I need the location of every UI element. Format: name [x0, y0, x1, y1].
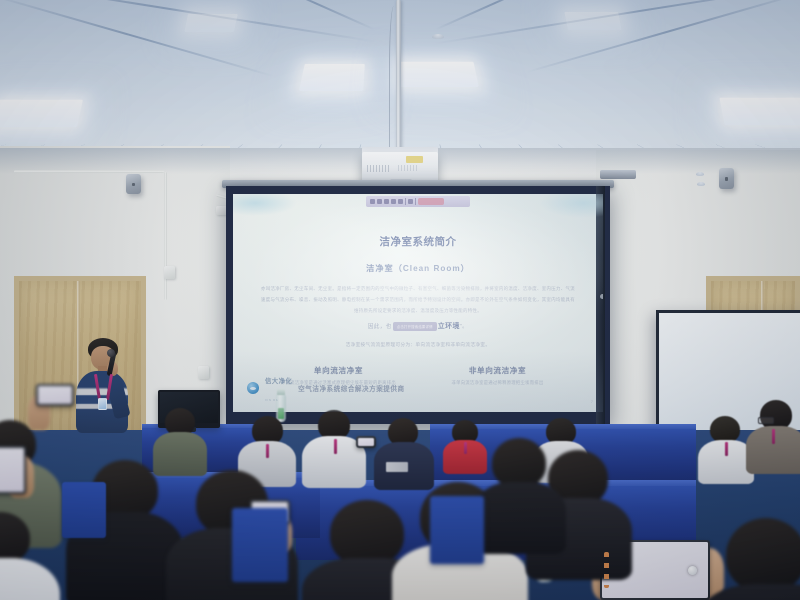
- quote-emphasis: 立环境: [438, 323, 460, 330]
- projector-vent: [367, 165, 391, 172]
- chair-back: [430, 496, 484, 564]
- head: [330, 500, 404, 566]
- head: [726, 518, 800, 592]
- audience-phone-raised[interactable]: [0, 446, 26, 494]
- lanyard: [266, 444, 269, 458]
- search-result-tooltip-chip[interactable]: 点击打开搜索结果详情: [393, 322, 437, 331]
- screen-glare: [539, 194, 603, 218]
- phone-screen: [0, 448, 24, 492]
- footer-tagline: 空气洁净系统综合解决方案提供商: [298, 383, 404, 393]
- slide-subtitle: 洁净室（Clean Room）: [253, 262, 583, 274]
- projector-vent: [398, 165, 418, 171]
- toolbar-icon[interactable]: [391, 199, 396, 204]
- phone-shutter-button[interactable]: [688, 566, 697, 575]
- ceiling-rail: [526, 0, 800, 73]
- projector-mount-pole: [396, 0, 401, 152]
- logo-chinese-name: 信大净化: [265, 378, 292, 385]
- chair-back: [232, 508, 288, 582]
- presentation-toolbar-overlay[interactable]: [366, 196, 470, 207]
- microphone-head-icon: [107, 349, 115, 357]
- wall-speaker-right: [719, 168, 734, 189]
- quote-suffix: ”。: [460, 324, 468, 330]
- phone-screen: [38, 386, 72, 404]
- wall-speaker-left: [126, 174, 141, 194]
- slide-page-number: 7: [591, 399, 593, 404]
- led-panel: [400, 62, 479, 87]
- glasses-icon: [758, 417, 774, 424]
- lanyard: [334, 439, 337, 454]
- wall-sensor-icon: [696, 172, 704, 176]
- audience-phone-raised[interactable]: [36, 384, 74, 406]
- slide-title: 洁净室系统简介: [253, 234, 583, 249]
- jacket-number: [386, 462, 408, 472]
- electrical-conduit: [14, 170, 164, 173]
- toolbar-icon[interactable]: [370, 199, 375, 204]
- wall-sensor-icon: [697, 182, 705, 186]
- slide-footer: 信大净化 XIN DA 空气洁净系统综合解决方案提供商: [233, 370, 603, 406]
- lanyard: [464, 442, 467, 454]
- lanyard: [772, 429, 775, 444]
- logo-text-block: 信大净化 XIN DA: [265, 370, 292, 406]
- smoke-detector-icon: [432, 34, 444, 39]
- conference-room-photo: 洁净室系统简介 洁净室（Clean Room） 亦叫洁净厂房、无尘车间、无尘室。…: [0, 0, 800, 600]
- phone-side-keys[interactable]: [604, 552, 609, 588]
- presenter-with-microphone: [72, 338, 138, 434]
- chair-back: [62, 482, 106, 538]
- slide-quote-line: 因此，也点击打开搜索结果详情立环境”。: [253, 321, 583, 331]
- toolbar-separator: [415, 198, 416, 205]
- screen-glare: [233, 194, 297, 216]
- slide-surface: 洁净室系统简介 洁净室（Clean Room） 亦叫洁净厂房、无尘车间、无尘室。…: [233, 194, 603, 412]
- audience-phone[interactable]: [356, 436, 376, 448]
- wall-junction-box: [164, 266, 175, 279]
- toolbar-icon[interactable]: [377, 199, 382, 204]
- led-panel: [184, 14, 238, 32]
- led-panel: [719, 98, 800, 125]
- company-logo-icon: [247, 382, 259, 394]
- projector-label: [406, 156, 423, 163]
- ceiling-rail: [0, 0, 274, 77]
- wall-junction-box: [198, 366, 209, 379]
- led-panel: [299, 64, 365, 91]
- quote-prefix: 因此，也: [368, 324, 392, 330]
- lanyard: [725, 442, 728, 456]
- phone-screen: [358, 438, 374, 446]
- toolbar-separator: [405, 198, 406, 205]
- torso: [153, 432, 207, 476]
- toolbar-action-button[interactable]: [418, 198, 444, 205]
- slide-paragraph: 亦叫洁净厂房、无尘车间、无尘室。是指将一定范围内的空气中的微粒子、有害空气、细菌…: [261, 284, 575, 316]
- screen-roller-right: [600, 170, 636, 179]
- pen-icon[interactable]: [408, 199, 413, 204]
- led-panel: [564, 12, 621, 30]
- screen-edge-marker: [600, 294, 603, 299]
- led-panel: [0, 100, 83, 127]
- presenter-badge: [98, 398, 107, 410]
- toolbar-icon[interactable]: [398, 199, 403, 204]
- slide-lead-text: 洁净室按气流流型原理可分为：单向流洁净室和非单向流洁净室。: [253, 342, 583, 348]
- head: [710, 416, 740, 443]
- torso: [474, 482, 566, 554]
- electrical-conduit: [164, 172, 167, 300]
- toolbar-icon[interactable]: [384, 199, 389, 204]
- logo-english-name: XIN DA: [265, 399, 278, 402]
- head: [492, 438, 546, 488]
- projection-screen: 洁净室系统简介 洁净室（Clean Room） 亦叫洁净厂房、无尘车间、无尘室。…: [226, 186, 610, 424]
